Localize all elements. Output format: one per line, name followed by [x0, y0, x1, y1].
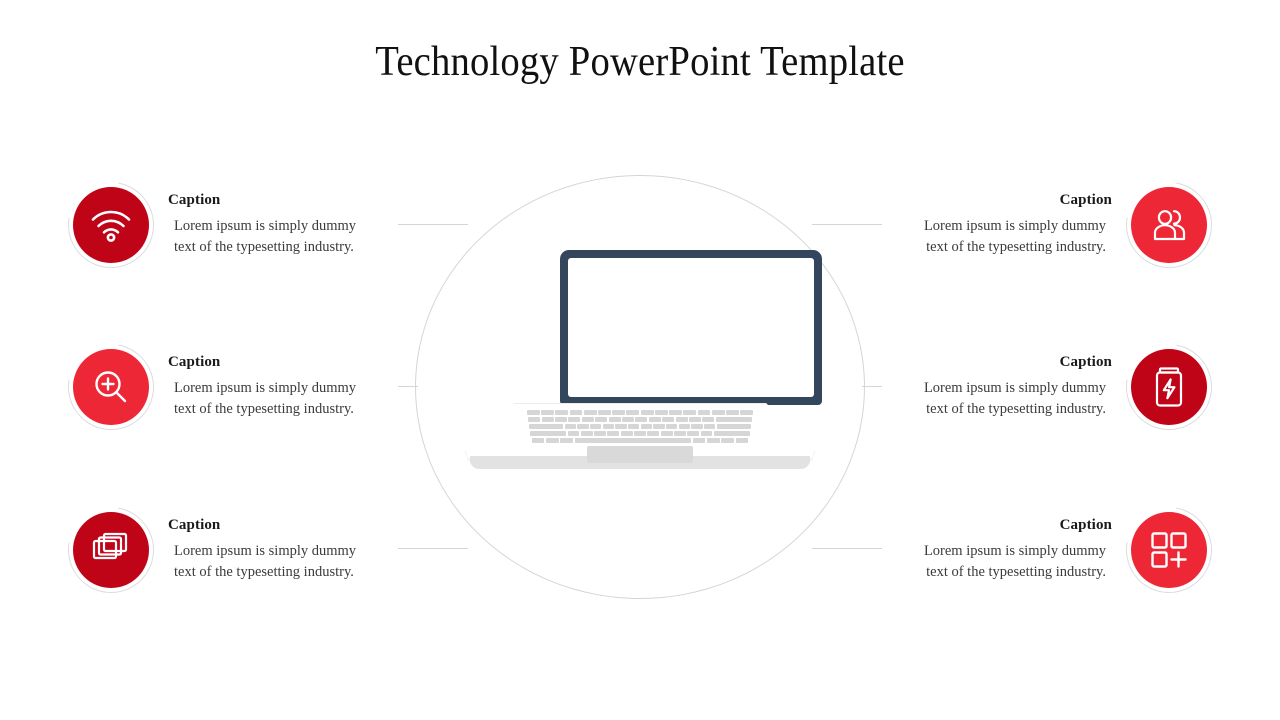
users-group-icon[interactable] — [1131, 187, 1207, 263]
feature-body: Lorem ipsum is simply dummy text of the … — [168, 378, 388, 419]
feature-caption: Caption — [168, 517, 388, 534]
feature-text-right-1: Caption Lorem ipsum is simply dummy text… — [892, 192, 1112, 257]
zoom-in-magnifier-icon[interactable] — [73, 349, 149, 425]
slide-canvas: Technology PowerPoint Template — [0, 0, 1280, 720]
feature-body: Lorem ipsum is simply dummy text of the … — [168, 216, 388, 257]
feature-text-left-2: Caption Lorem ipsum is simply dummy text… — [168, 354, 388, 419]
feature-item-left-1[interactable]: Caption Lorem ipsum is simply dummy text… — [68, 182, 388, 268]
feature-caption: Caption — [168, 192, 388, 209]
feature-text-right-2: Caption Lorem ipsum is simply dummy text… — [892, 354, 1112, 419]
feature-item-left-2[interactable]: Caption Lorem ipsum is simply dummy text… — [68, 344, 388, 430]
center-illustration — [415, 175, 865, 599]
feature-body: Lorem ipsum is simply dummy text of the … — [168, 541, 388, 582]
feature-item-right-3[interactable]: Caption Lorem ipsum is simply dummy text… — [892, 507, 1212, 593]
page-title: Technology PowerPoint Template — [51, 38, 1229, 86]
feature-text-right-3: Caption Lorem ipsum is simply dummy text… — [892, 517, 1112, 582]
battery-charging-icon[interactable] — [1131, 349, 1207, 425]
icon-ring-right-1 — [1126, 182, 1212, 268]
feature-text-left-3: Caption Lorem ipsum is simply dummy text… — [168, 517, 388, 582]
icon-ring-left-3 — [68, 507, 154, 593]
connector-line-right-2 — [862, 386, 882, 387]
layers-stack-icon[interactable] — [73, 512, 149, 588]
feature-body: Lorem ipsum is simply dummy text of the … — [892, 378, 1112, 419]
wifi-icon[interactable] — [73, 187, 149, 263]
laptop-keyboard — [527, 410, 753, 443]
feature-caption: Caption — [168, 354, 388, 371]
feature-caption: Caption — [892, 517, 1112, 534]
feature-text-left-1: Caption Lorem ipsum is simply dummy text… — [168, 192, 388, 257]
feature-item-right-2[interactable]: Caption Lorem ipsum is simply dummy text… — [892, 344, 1212, 430]
laptop-illustration — [465, 250, 815, 485]
feature-item-right-1[interactable]: Caption Lorem ipsum is simply dummy text… — [892, 182, 1212, 268]
grid-add-icon[interactable] — [1131, 512, 1207, 588]
laptop-lid — [560, 250, 822, 405]
icon-ring-right-2 — [1126, 344, 1212, 430]
feature-caption: Caption — [892, 354, 1112, 371]
icon-ring-left-2 — [68, 344, 154, 430]
icon-ring-right-3 — [1126, 507, 1212, 593]
feature-item-left-3[interactable]: Caption Lorem ipsum is simply dummy text… — [68, 507, 388, 593]
feature-caption: Caption — [892, 192, 1112, 209]
icon-ring-left-1 — [68, 182, 154, 268]
laptop-trackpad — [587, 446, 693, 463]
feature-body: Lorem ipsum is simply dummy text of the … — [892, 216, 1112, 257]
feature-body: Lorem ipsum is simply dummy text of the … — [892, 541, 1112, 582]
laptop-screen — [568, 258, 814, 397]
